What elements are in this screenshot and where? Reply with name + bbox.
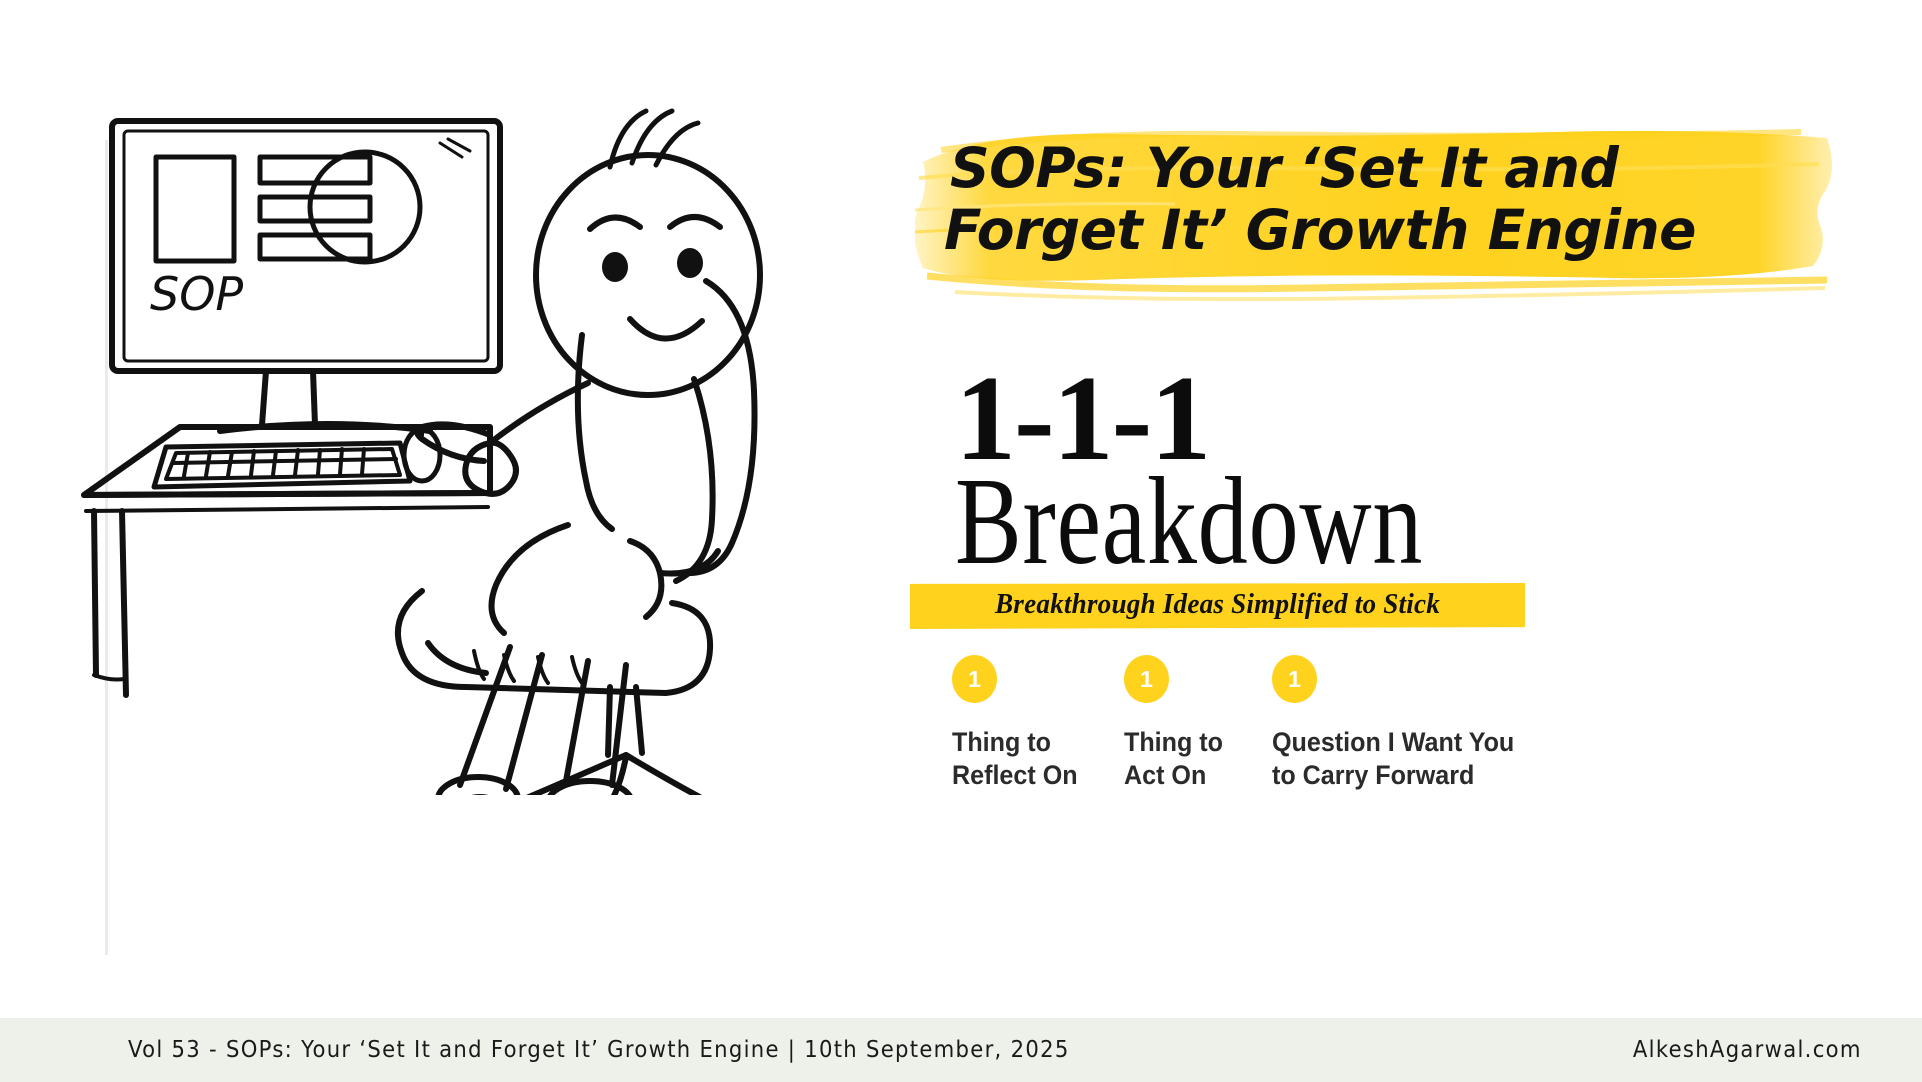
office-chair (398, 281, 772, 795)
footer-website[interactable]: AlkeshAgarwal.com (1633, 1037, 1862, 1063)
screen-content (156, 152, 420, 262)
slide-canvas: SOP (0, 0, 1922, 1082)
headline-line-2: Forget It’ Growth Engine (944, 200, 1850, 262)
sop-illustration: SOP (70, 95, 900, 795)
triple-label-question: Question I Want You to Carry Forward (1272, 726, 1551, 792)
breakdown-word: Breakdown (955, 460, 1423, 585)
person-head (536, 111, 760, 395)
tagline-text: Breakthrough Ideas Simplified to Stick (919, 589, 1516, 621)
triple-col-act: 1 Thing to Act On (1124, 655, 1272, 792)
triple-label-reflect: Thing to Reflect On (952, 726, 1112, 792)
headline-block: SOPs: Your ‘Set It and Forget It’ Growth… (930, 120, 1870, 305)
right-content-column: SOPs: Your ‘Set It and Forget It’ Growth… (930, 120, 1870, 950)
triple-col-question: 1 Question I Want You to Carry Forward (1272, 655, 1572, 792)
badge-number-3: 1 (1272, 655, 1317, 703)
headline-line-1: SOPs: Your ‘Set It and (950, 136, 1618, 200)
footer-bar: Vol 53 - SOPs: Your ‘Set It and Forget I… (0, 1018, 1922, 1082)
page-title: SOPs: Your ‘Set It and Forget It’ Growth… (930, 138, 1850, 261)
keyboard (154, 443, 410, 487)
badge-number-2: 1 (1124, 655, 1169, 703)
desk (84, 427, 490, 695)
triple-label-act: Thing to Act On (1124, 726, 1262, 792)
footer-issue-line: Vol 53 - SOPs: Your ‘Set It and Forget I… (128, 1037, 1070, 1063)
screen-sop-text: SOP (150, 267, 243, 321)
person-figure (417, 335, 713, 795)
badge-number-1: 1 (952, 655, 997, 703)
triple-columns: 1 Thing to Reflect On 1 Thing to Act On … (952, 655, 1572, 792)
monitor-stand (220, 371, 430, 431)
triple-col-reflect: 1 Thing to Reflect On (952, 655, 1124, 792)
